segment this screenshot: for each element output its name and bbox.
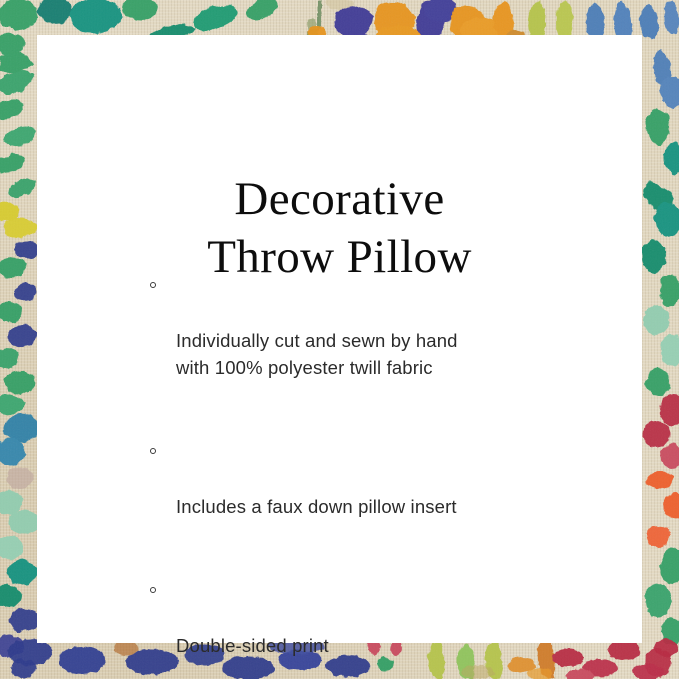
- list-item: Includes a faux down pillow insert: [150, 439, 590, 547]
- feature-text: Double-sided print: [176, 632, 590, 659]
- list-item: Double-sided print: [150, 578, 590, 679]
- product-feature-card: Decorative Throw Pillow Individually cut…: [0, 0, 679, 679]
- list-item: Individually cut and sewn by hand with 1…: [150, 273, 590, 408]
- card-inner: Decorative Throw Pillow Individually cut…: [37, 35, 642, 643]
- bullet-circle-icon: [150, 448, 156, 454]
- feature-text: Includes a faux down pillow insert: [176, 493, 590, 520]
- feature-list: Individually cut and sewn by hand with 1…: [150, 273, 590, 679]
- page-title: Decorative Throw Pillow: [37, 170, 642, 286]
- bullet-circle-icon: [150, 282, 156, 288]
- content-card: Decorative Throw Pillow Individually cut…: [37, 35, 642, 643]
- feature-text: Individually cut and sewn by hand with 1…: [176, 327, 590, 381]
- bullet-circle-icon: [150, 587, 156, 593]
